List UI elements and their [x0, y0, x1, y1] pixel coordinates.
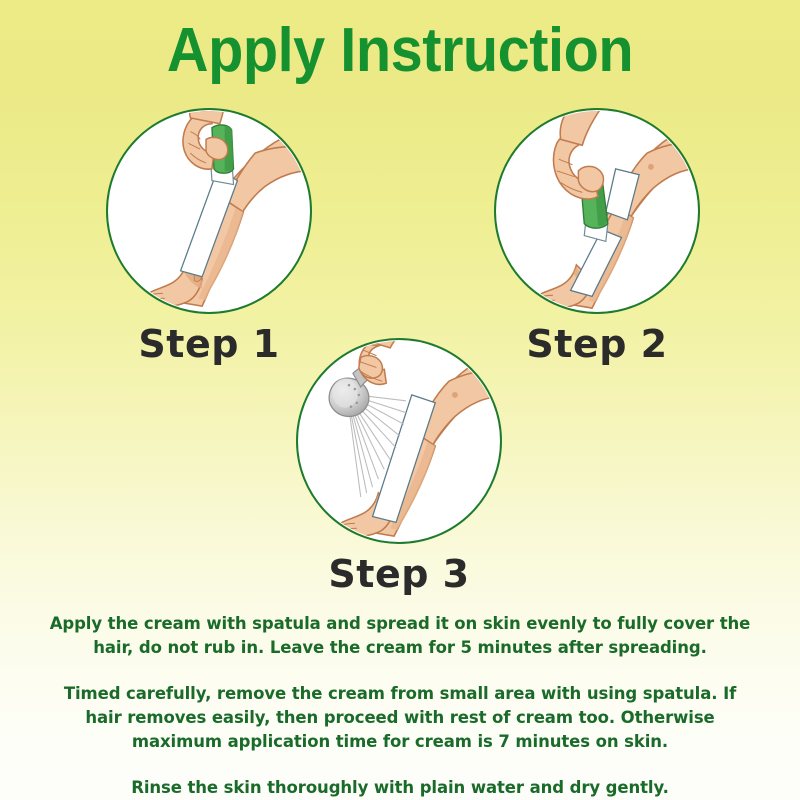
step-2-illustration-circle — [494, 108, 700, 314]
step-2: Step 2 — [494, 108, 700, 366]
instruction-paragraph-3: Rinse the skin thoroughly with plain wat… — [50, 776, 750, 800]
page-title: Apply Instruction — [28, 18, 772, 83]
instructions-section: Apply the cream with spatula and spread … — [0, 612, 800, 800]
instruction-paragraph-2: Timed carefully, remove the cream from s… — [50, 682, 750, 754]
apply-instruction-poster: Apply Instruction — [0, 0, 800, 800]
step-2-label: Step 2 — [494, 322, 700, 366]
step-1-illustration-circle — [106, 108, 312, 314]
hand-applying-cream-with-spatula-icon — [108, 110, 310, 312]
instruction-paragraph-1: Apply the cream with spatula and spread … — [28, 612, 772, 660]
step-3-illustration-circle — [296, 338, 502, 544]
step-1: Step 1 — [106, 108, 312, 366]
step-3: Step 3 — [296, 338, 502, 596]
step-1-label: Step 1 — [106, 322, 312, 366]
step-3-label: Step 3 — [296, 552, 502, 596]
hand-removing-cream-with-spatula-icon — [496, 110, 698, 312]
showerhead-rinsing-leg-icon — [298, 340, 500, 542]
